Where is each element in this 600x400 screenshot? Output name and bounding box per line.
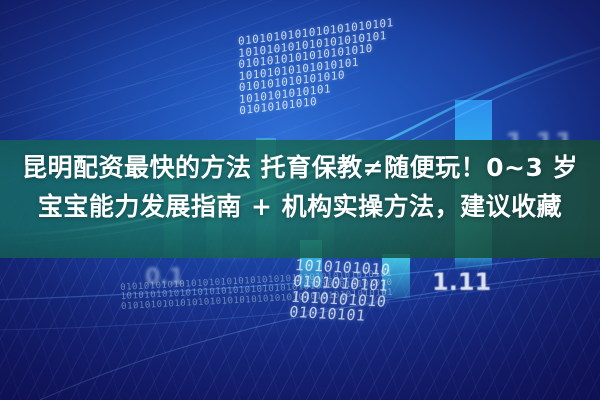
title-line-2: 宝宝能力发展指南 + 机构实操方法，建议收藏 xyxy=(0,187,600,226)
chart-bar xyxy=(455,258,492,270)
banner-title: 昆明配资最快的方法 托育保教≠随便玩！0~3 岁 宝宝能力发展指南 + 机构实操… xyxy=(0,148,600,226)
banner-image: 0101010101010101010101 10101010101010101… xyxy=(0,0,600,400)
title-line-1: 昆明配资最快的方法 托育保教≠随便玩！0~3 岁 xyxy=(0,148,600,187)
chart-bar xyxy=(382,254,410,298)
